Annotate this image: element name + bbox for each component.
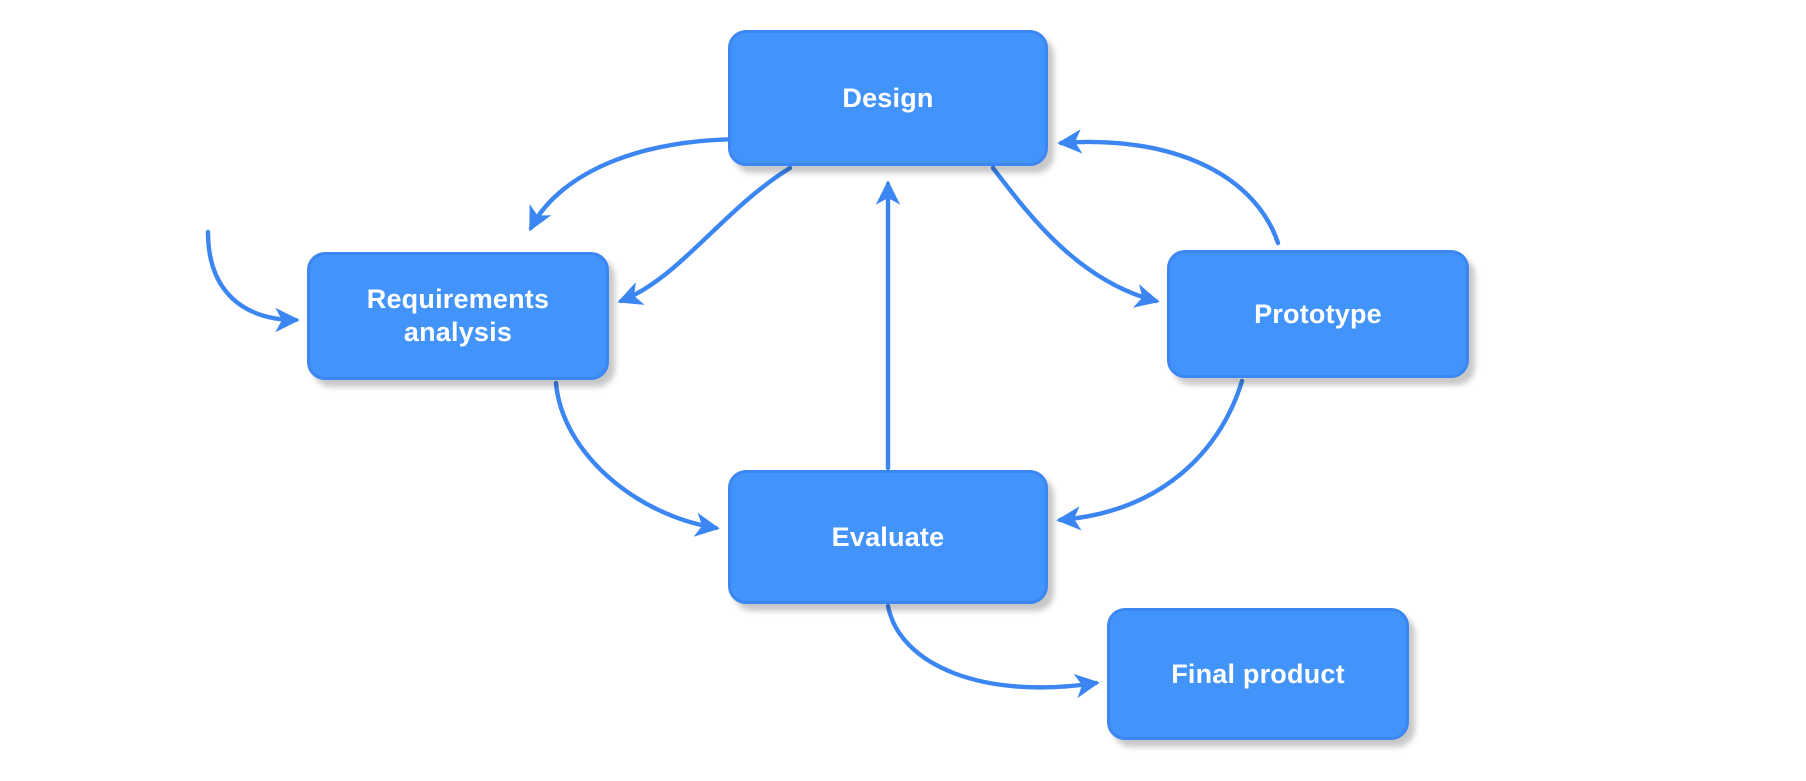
edge-evaluate-to-final-product [888, 606, 1096, 687]
edge-prototype-to-design [1061, 142, 1278, 243]
node-prototype[interactable]: Prototype [1167, 250, 1469, 378]
edge-start-to-requirements [208, 232, 296, 320]
edge-prototype-to-evaluate [1060, 381, 1242, 520]
flowchart-canvas: Design Requirements analysis Prototype E… [0, 0, 1806, 781]
node-requirements-analysis[interactable]: Requirements analysis [307, 252, 609, 380]
node-design[interactable]: Design [728, 30, 1048, 166]
node-evaluate-label: Evaluate [822, 521, 955, 554]
node-evaluate[interactable]: Evaluate [728, 470, 1048, 604]
node-final-product-label: Final product [1161, 658, 1355, 691]
node-design-label: Design [832, 82, 943, 115]
node-requirements-analysis-label: Requirements analysis [357, 283, 559, 349]
edge-design-to-prototype [993, 168, 1156, 301]
edge-requirements-to-evaluate [556, 383, 716, 528]
node-final-product[interactable]: Final product [1107, 608, 1409, 740]
node-prototype-label: Prototype [1244, 298, 1392, 331]
edge-design-to-requirements-lower [621, 168, 790, 301]
